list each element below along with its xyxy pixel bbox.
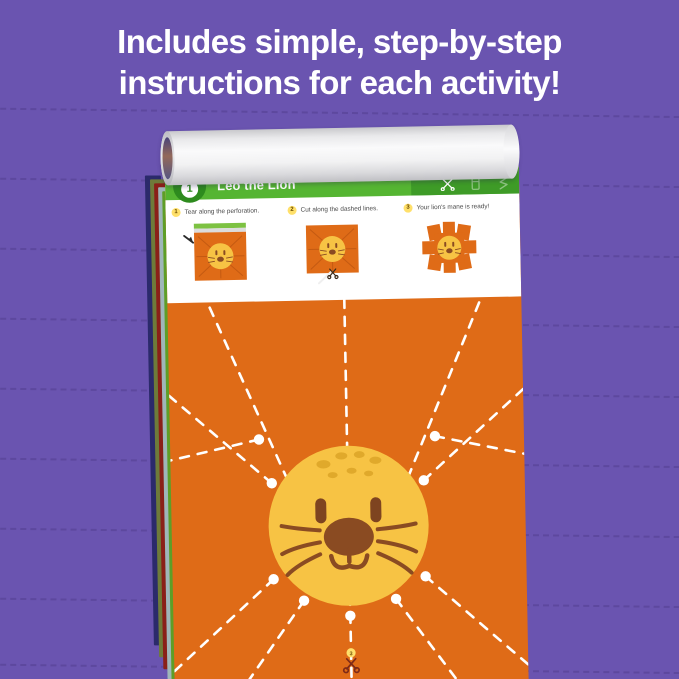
scissors-icon: 3 — [339, 648, 363, 674]
step-item: 3 Your lion's mane is ready! — [403, 200, 513, 214]
step-number: 3 — [403, 203, 412, 212]
roll-right-cap — [503, 124, 520, 178]
step-number: 2 — [287, 205, 296, 214]
step-text: Cut along the dashed lines. — [300, 205, 378, 213]
activity-sheet: 3 Level 1 Leo the Lion — [165, 166, 529, 679]
step-item: 2 Cut along the dashed lines. — [287, 202, 397, 216]
step-text: Tear along the perforation. — [185, 207, 260, 215]
step-thumbnail-cut — [296, 218, 369, 285]
step-number: 1 — [171, 207, 180, 216]
roll-left-edge — [160, 131, 175, 185]
step-list: 1 Tear along the perforation. — [165, 199, 521, 302]
svg-text:3: 3 — [350, 651, 353, 657]
activity-pad: 3 Level 1 Leo the Lion — [150, 124, 529, 679]
roll-inner-core — [162, 137, 173, 179]
step-text: Your lion's mane is ready! — [416, 203, 489, 211]
step-thumbnail-finished — [412, 216, 485, 283]
headline-line-1: Includes simple, step-by-step — [0, 22, 679, 63]
lion-face-illustration — [261, 436, 436, 611]
step-thumbnail-tear — [180, 221, 253, 288]
headline-line-2: instructions for each activity! — [0, 63, 679, 104]
step-item: 1 Tear along the perforation. — [171, 204, 281, 218]
rolled-paper-cover — [160, 124, 519, 185]
product-image: Includes simple, step-by-step instructio… — [0, 0, 679, 679]
page-title: Includes simple, step-by-step instructio… — [0, 22, 679, 104]
instruction-panel: Level 1 Leo the Lion cut — [165, 166, 521, 303]
